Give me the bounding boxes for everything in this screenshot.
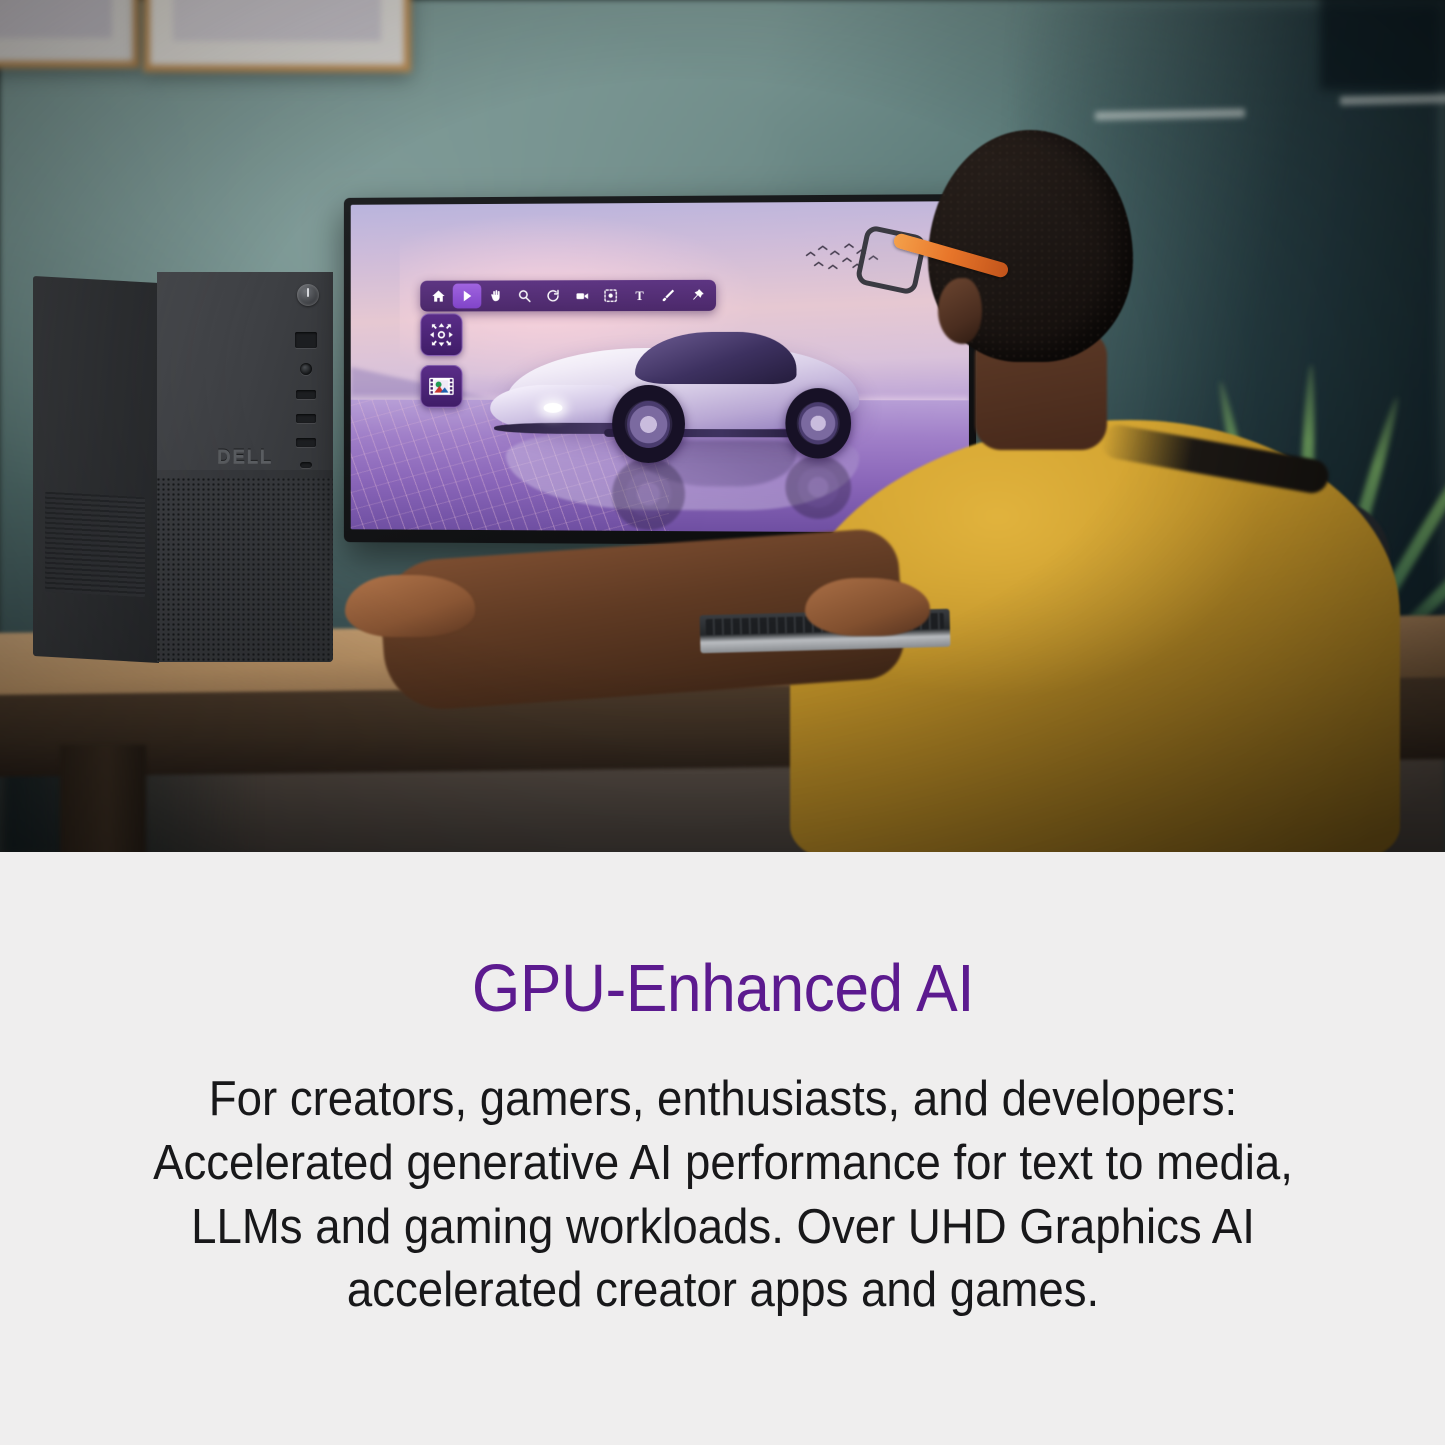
dell-desktop-tower: DELL bbox=[33, 272, 333, 662]
pan-tool-icon[interactable] bbox=[481, 284, 510, 309]
sd-card-slot-icon bbox=[295, 332, 317, 348]
caption-panel: GPU-Enhanced AI For creators, gamers, en… bbox=[0, 852, 1445, 1445]
hero-photo: DELL bbox=[0, 0, 1445, 852]
person-right-hand bbox=[805, 578, 930, 636]
car-front-wheel bbox=[612, 385, 685, 463]
home-tool-icon[interactable] bbox=[424, 284, 453, 309]
wheel-reflection bbox=[612, 457, 685, 529]
headphone-jack-icon bbox=[300, 363, 312, 375]
usb-port-icon bbox=[296, 438, 316, 447]
wall-recess bbox=[1320, 0, 1445, 90]
dell-logo: DELL bbox=[217, 447, 273, 469]
render-region-tool-icon[interactable] bbox=[596, 283, 625, 308]
usb-c-port-icon bbox=[300, 462, 312, 468]
tool-panel bbox=[420, 313, 462, 416]
car-cabin-glass bbox=[635, 332, 797, 384]
person-at-desk bbox=[800, 120, 1445, 852]
tower-side-vent bbox=[45, 492, 145, 598]
product-feature-card: DELL bbox=[0, 0, 1445, 1445]
media-library-button[interactable] bbox=[420, 365, 462, 408]
person-left-hand bbox=[345, 575, 475, 637]
pin-tool-icon[interactable] bbox=[683, 283, 712, 308]
text-tool-icon[interactable]: T bbox=[625, 283, 654, 308]
svg-text:T: T bbox=[636, 289, 645, 303]
usb-port-icon bbox=[296, 390, 316, 399]
tower-port-cluster bbox=[293, 332, 319, 483]
desk-leg bbox=[60, 745, 146, 852]
wall-art-frame bbox=[0, 0, 140, 68]
power-button-icon[interactable] bbox=[297, 284, 319, 306]
zoom-tool-icon[interactable] bbox=[510, 283, 539, 308]
eyeglasses-icon bbox=[854, 224, 927, 296]
camera-tool-icon[interactable] bbox=[568, 283, 597, 308]
car-headlight bbox=[544, 403, 563, 413]
feature-description: For creators, gamers, enthusiasts, and d… bbox=[132, 1068, 1313, 1323]
select-tool-icon[interactable] bbox=[453, 284, 482, 309]
person-ear bbox=[938, 278, 982, 344]
feature-headline: GPU-Enhanced AI bbox=[471, 954, 973, 1024]
wall-art-frame bbox=[143, 0, 411, 72]
tower-side-panel bbox=[33, 276, 159, 663]
tower-front-panel: DELL bbox=[157, 272, 333, 662]
app-toolbar: T bbox=[420, 280, 716, 312]
usb-port-icon bbox=[296, 414, 316, 423]
brush-tool-icon[interactable] bbox=[654, 283, 683, 308]
orbit-tool-icon[interactable] bbox=[539, 283, 568, 308]
transform-gizmo-button[interactable] bbox=[420, 313, 462, 356]
tower-mesh-vent bbox=[157, 478, 333, 662]
